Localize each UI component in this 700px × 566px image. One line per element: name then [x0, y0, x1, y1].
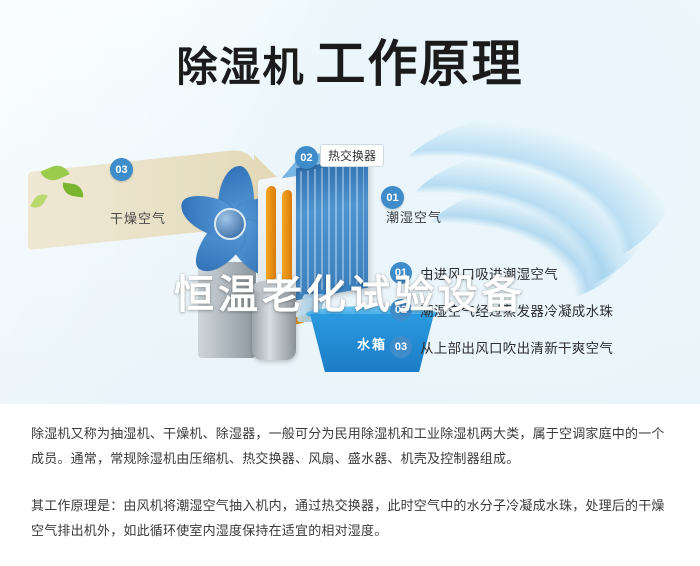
description-paragraph-1: 除湿机又称为抽湿机、干燥机、除湿器，一般可分为民用除湿机和工业除湿机两大类，属于…: [31, 421, 677, 471]
legend-text: 由进风口吸进潮湿空气: [420, 263, 558, 283]
badge-02: 02: [295, 146, 318, 169]
legend-text: 从上部出风口吹出清新干爽空气: [420, 337, 613, 357]
heat-exchanger-tag: 热交换器: [320, 144, 384, 167]
badge-01: 01: [381, 186, 404, 209]
title-part-1: 除湿机: [177, 44, 306, 90]
badge-03-left: 03: [110, 158, 133, 181]
fan-hub: [214, 208, 246, 240]
dry-air-label: 干燥空气: [110, 208, 166, 227]
legend-item-03: 03 从上部出风口吹出清新干爽空气: [390, 336, 690, 358]
heat-exchanger-fins: [300, 160, 364, 293]
title-part-2: 工作原理: [316, 36, 524, 92]
coil-tube: [266, 185, 276, 282]
legend-item-02: 02 潮湿空气经过蒸发器冷凝成水珠: [390, 299, 690, 321]
description-paragraph-2: 其工作原理是：由风机将潮湿空气抽入机内，通过热交换器，此时空气中的水分子冷凝成水…: [31, 493, 677, 543]
illustration-panel: 除湿机工作原理 03 干燥空气 01 潮湿空气: [0, 0, 700, 404]
infographic-page: 除湿机工作原理 03 干燥空气 01 潮湿空气: [0, 0, 700, 566]
legend-number: 01: [390, 262, 412, 284]
compressor: [252, 286, 296, 360]
legend-item-01: 01 由进风口吸进潮湿空气: [390, 262, 690, 284]
humid-air-label: 潮湿空气: [386, 207, 442, 226]
coil-tube: [282, 189, 292, 286]
description-section: 除湿机又称为抽湿机、干燥机、除湿器，一般可分为民用除湿机和工业除湿机两大类，属于…: [0, 404, 700, 566]
legend-number: 03: [390, 336, 412, 358]
legend-text: 潮湿空气经过蒸发器冷凝成水珠: [420, 300, 613, 320]
page-title: 除湿机工作原理: [0, 24, 700, 96]
legend-list: 01 由进风口吸进潮湿空气 02 潮湿空气经过蒸发器冷凝成水珠 03 从上部出风…: [390, 262, 690, 373]
legend-number: 02: [390, 299, 412, 321]
compressor-top: [252, 280, 296, 294]
